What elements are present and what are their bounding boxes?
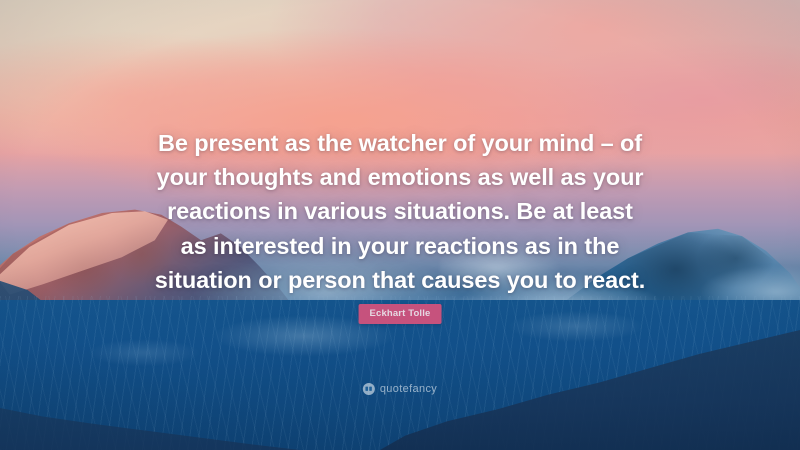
quote-line-5: situation or person that causes you to r… bbox=[60, 263, 740, 297]
quote-text-block: Be present as the watcher of your mind –… bbox=[0, 126, 800, 297]
quote-line-3: reactions in various situations. Be at l… bbox=[60, 194, 740, 228]
author-name-badge[interactable]: Eckhart Tolle bbox=[359, 304, 442, 324]
quote-line-4: as interested in your reactions as in th… bbox=[60, 229, 740, 263]
quote-card: Be present as the watcher of your mind –… bbox=[0, 0, 800, 450]
watermark-label: quotefancy bbox=[380, 383, 437, 395]
quote-line-1: Be present as the watcher of your mind –… bbox=[60, 126, 740, 160]
quotefancy-watermark[interactable]: quotefancy bbox=[363, 383, 437, 395]
quote-mark-icon bbox=[363, 383, 375, 395]
quote-line-2: your thoughts and emotions as well as yo… bbox=[60, 160, 740, 194]
